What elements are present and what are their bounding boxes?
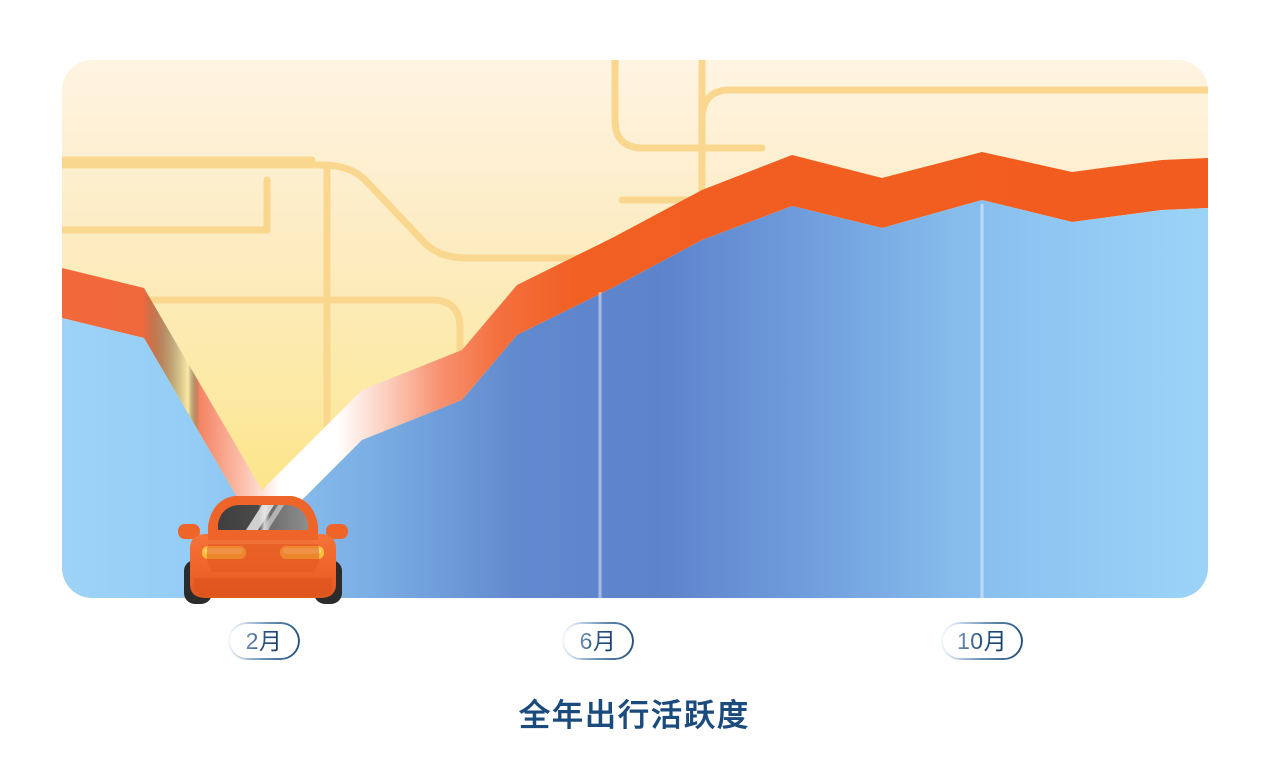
axis-pill-2[interactable]: 2月: [228, 622, 300, 660]
car-trunk-shade: [207, 544, 320, 572]
chart-caption: 全年出行活跃度: [0, 690, 1269, 735]
car-lower-shade: [194, 578, 332, 596]
axis-pill-6[interactable]: 6月: [562, 622, 634, 660]
axis-pill-6-label: 6月: [580, 630, 617, 653]
car-illustration: [178, 486, 348, 610]
axis-pill-10[interactable]: 10月: [941, 622, 1023, 660]
axis-pill-2-label: 2月: [246, 630, 283, 653]
illustration-stage: 2月 6月 10月 全年出行活跃度: [0, 0, 1269, 784]
axis-pill-10-label: 10月: [957, 630, 1007, 653]
